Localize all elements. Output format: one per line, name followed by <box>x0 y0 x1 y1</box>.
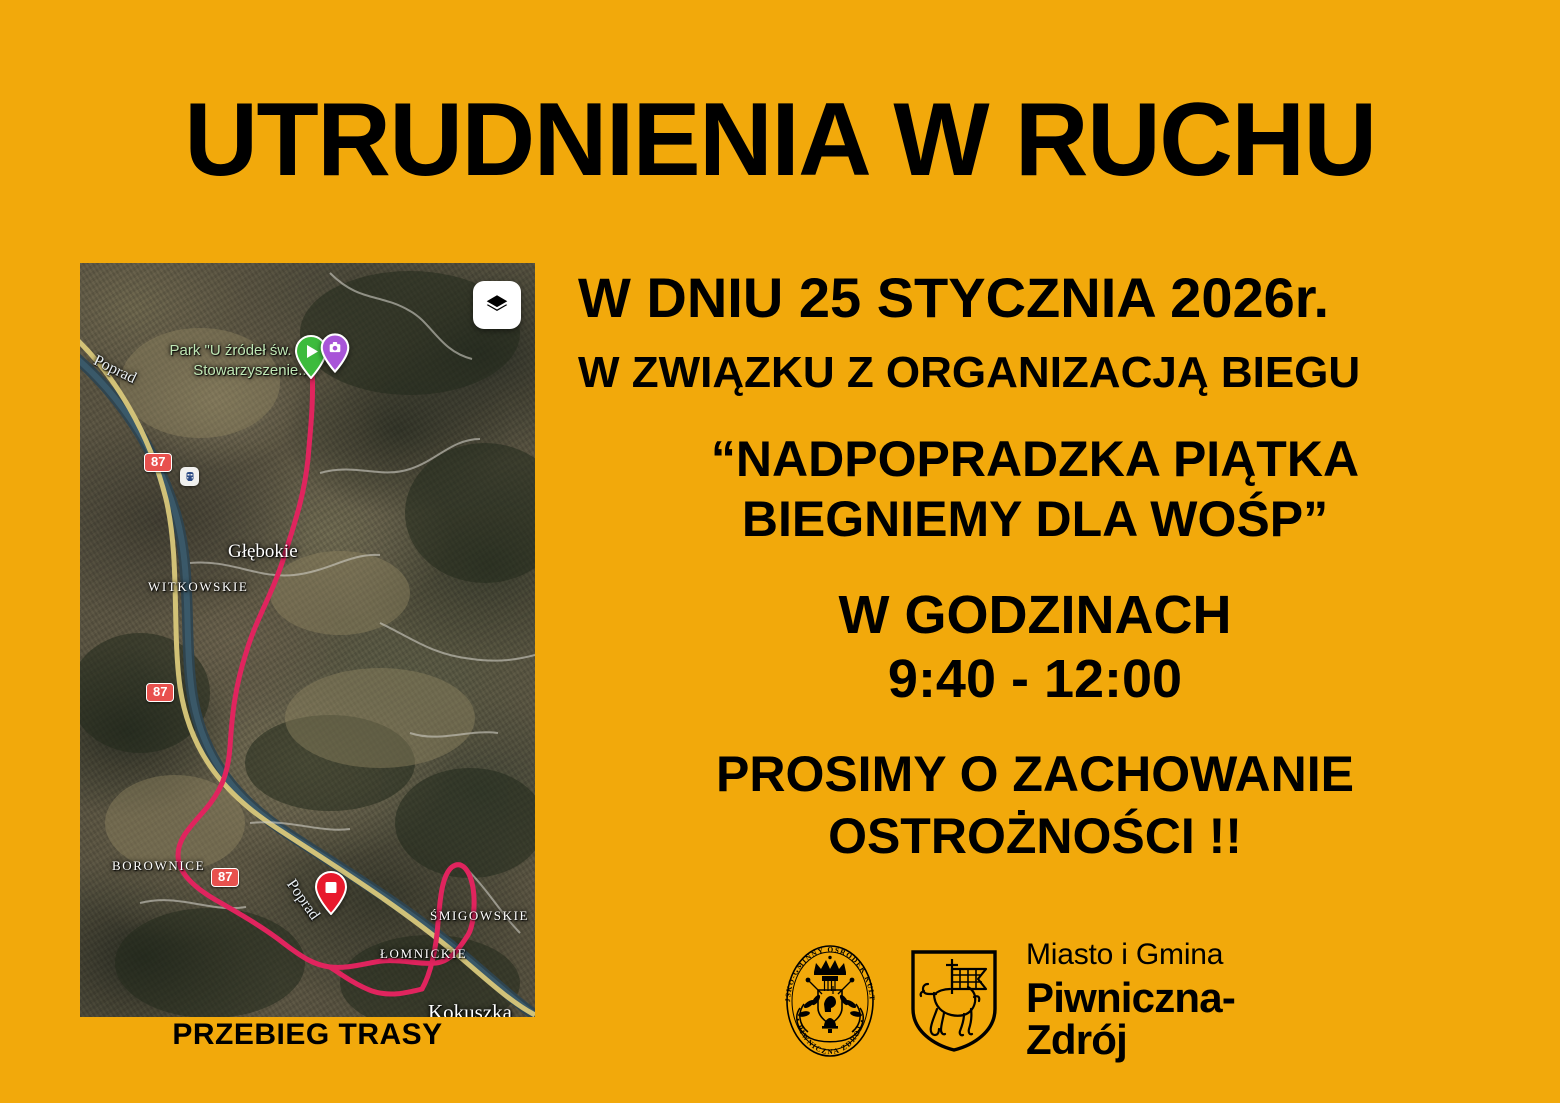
event-name-line-2: BIEGNIEMY DLA WOŚP” <box>560 489 1510 549</box>
announcement-text: W DNIU 25 STYCZNIA 2026r. W ZWIĄZKU Z OR… <box>560 265 1510 867</box>
road-shield-87-mid: 87 <box>146 683 174 702</box>
layers-icon <box>484 292 510 318</box>
caution-line-1: PROSIMY O ZACHOWANIE <box>560 743 1510 805</box>
finish-marker-pin[interactable] <box>314 871 348 915</box>
road-shield-87-lower: 87 <box>211 868 239 887</box>
announcement-reason: W ZWIĄZKU Z ORGANIZACJĄ BIEGU <box>560 345 1510 401</box>
poi-marker-pin[interactable] <box>320 333 350 373</box>
hours-value: 9:40 - 12:00 <box>560 647 1510 711</box>
announcement-date: W DNIU 25 STYCZNIA 2026r. <box>560 265 1510 331</box>
train-glyph <box>184 471 196 483</box>
page-title: UTRUDNIENIA W RUCHU <box>16 84 1545 196</box>
municipality-name: Piwniczna-Zdrój <box>1026 977 1318 1061</box>
caution-line-2: OSTROŻNOŚCI !! <box>560 805 1510 867</box>
event-name-line-1: “NADPOPRADZKA PIĄTKA <box>560 429 1510 489</box>
road-shield-87-upper: 87 <box>144 453 172 472</box>
route-map: Park "U źródeł św. Kingi" Stowarzyszenie… <box>80 263 535 1017</box>
hours-label: W GODZINACH <box>560 583 1510 647</box>
municipality-prefix: Miasto i Gmina <box>1026 940 1318 970</box>
map-caption: PRZEBIEG TRASY <box>80 1018 535 1052</box>
mgok-seal-logo: MIEJSKO-GMINNY OŚRODEK KULTURY • PIWNICZ… <box>778 942 882 1060</box>
map-canvas[interactable]: Park "U źródeł św. Kingi" Stowarzyszenie… <box>80 263 535 1017</box>
footer-logos: MIEJSKO-GMINNY OŚRODEK KULTURY • PIWNICZ… <box>778 938 1318 1063</box>
layers-button[interactable] <box>473 281 521 329</box>
piwniczna-zdroj-coat-of-arms <box>908 947 1000 1055</box>
municipality-wordmark: Miasto i Gmina Piwniczna-Zdrój <box>1026 940 1318 1061</box>
train-station-icon <box>180 467 199 486</box>
